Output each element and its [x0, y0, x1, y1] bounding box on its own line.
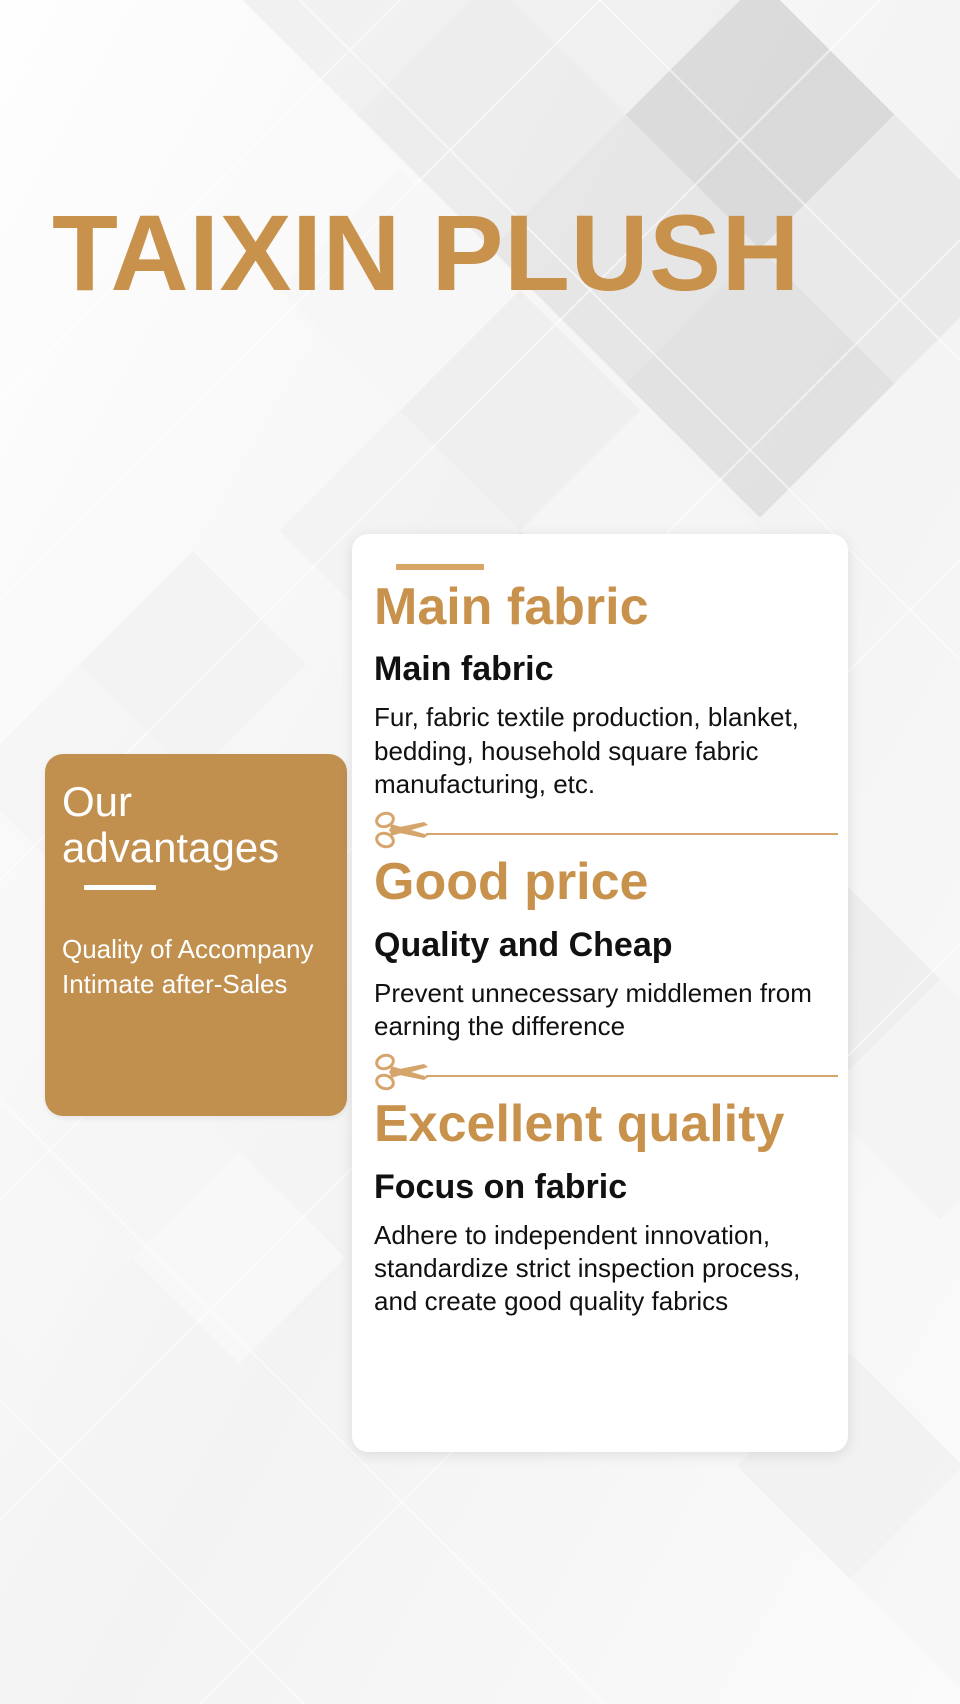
section-title: Excellent quality: [374, 1095, 832, 1154]
section-subtitle: Focus on fabric: [374, 1165, 832, 1209]
section-subtitle: Quality and Cheap: [374, 923, 832, 967]
scissors-divider: [374, 807, 832, 853]
feature-section-good-price: Good price Quality and Cheap Prevent unn…: [374, 853, 832, 1043]
section-title: Good price: [374, 853, 832, 912]
scissors-divider: [374, 1049, 832, 1095]
scissors-icon: [374, 1051, 432, 1093]
advantages-heading-line1: Our: [62, 780, 325, 824]
section-title: Main fabric: [374, 578, 832, 637]
page-title: TAIXIN PLUSH: [52, 196, 800, 309]
feature-section-excellent-quality: Excellent quality Focus on fabric Adhere…: [374, 1095, 832, 1318]
section-subtitle: Main fabric: [374, 647, 832, 691]
feature-section-main-fabric: Main fabric Main fabric Fur, fabric text…: [374, 564, 832, 801]
scissors-icon: [374, 809, 432, 851]
divider-line: [426, 1075, 838, 1077]
section-accent-dash: [396, 564, 484, 570]
our-advantages-card: Our advantages Quality of Accompany Inti…: [45, 754, 347, 1116]
features-card: Main fabric Main fabric Fur, fabric text…: [352, 534, 848, 1452]
divider-line: [426, 833, 838, 835]
advantages-subtitle-line1: Quality of Accompany: [62, 932, 325, 967]
advantages-heading-line2: advantages: [62, 824, 325, 871]
advantages-subtitle-line2: Intimate after-Sales: [62, 967, 325, 1002]
advantages-underline: [84, 885, 156, 890]
section-body: Fur, fabric textile production, blanket,…: [374, 701, 832, 801]
section-body: Prevent unnecessary middlemen from earni…: [374, 977, 832, 1044]
section-body: Adhere to independent innovation, standa…: [374, 1219, 832, 1319]
